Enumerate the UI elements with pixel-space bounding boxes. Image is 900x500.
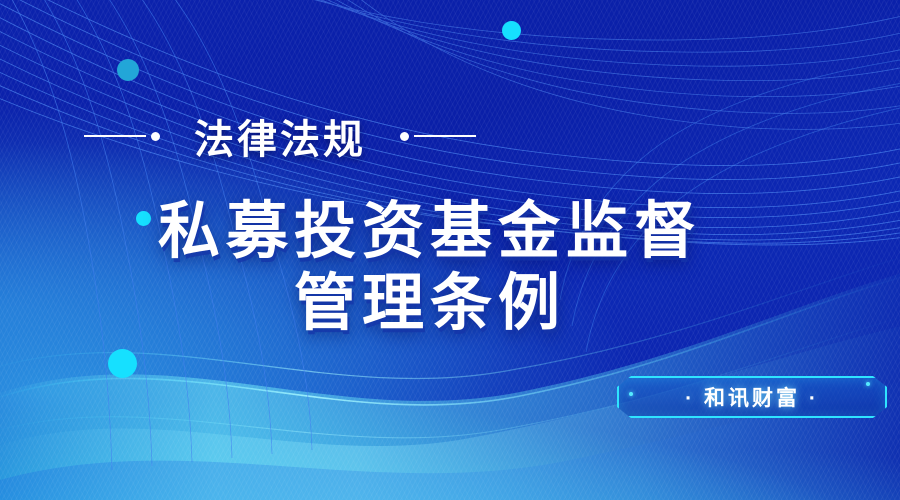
dot-top-left: [117, 59, 139, 81]
rule-left-icon: [84, 132, 160, 141]
rule-right-icon: [400, 132, 476, 141]
dot-bottom-left: [108, 349, 137, 378]
kicker-label: 法律法规: [194, 107, 366, 165]
dot-top-right: [502, 21, 521, 40]
title-line-1: 私募投资基金监督: [0, 196, 860, 268]
dot-badge-right: [866, 382, 870, 386]
brand-badge[interactable]: · 和讯财富 ·: [617, 376, 887, 418]
title-line-2: 管理条例: [0, 268, 860, 340]
brand-badge-label: · 和讯财富 ·: [685, 382, 819, 412]
kicker-row: 法律法规: [0, 107, 560, 165]
page-title: 私募投资基金监督 管理条例: [0, 196, 860, 340]
banner-poster: 法律法规 私募投资基金监督 管理条例 · 和讯财富 ·: [0, 0, 900, 500]
dot-badge-left: [629, 392, 633, 396]
